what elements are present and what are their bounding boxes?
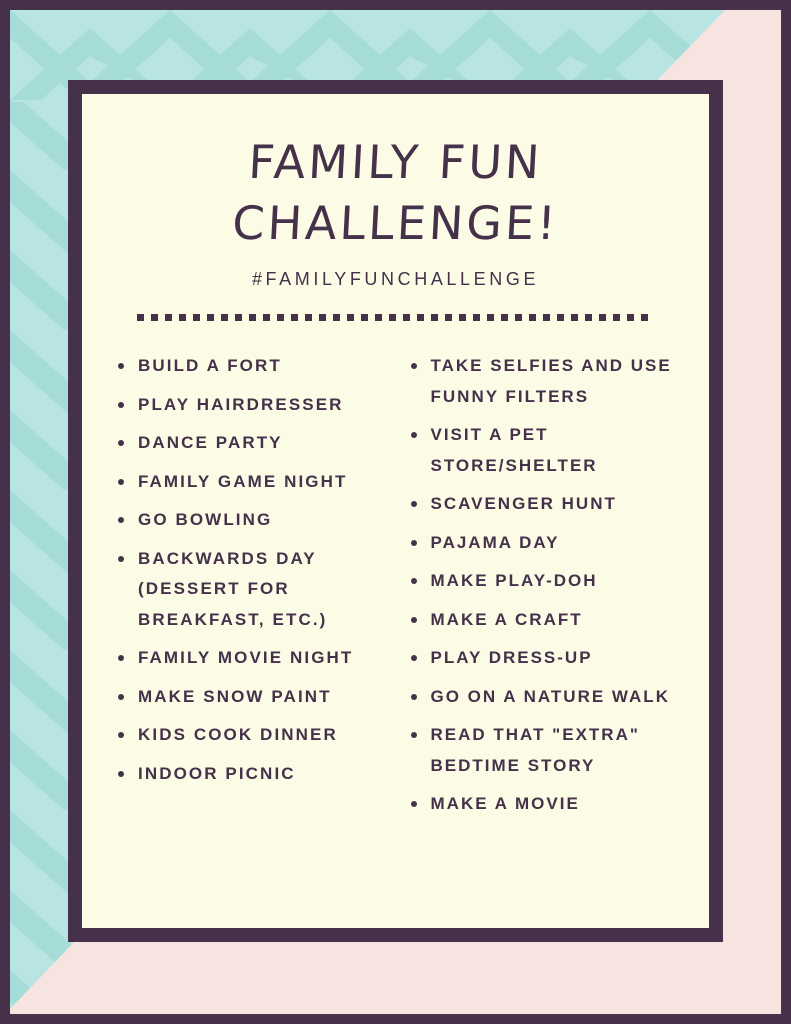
list-item-label: MAKE SNOW PAINT xyxy=(138,687,332,706)
list-item-label: MAKE A MOVIE xyxy=(431,794,580,813)
list-item[interactable]: DANCE PARTY xyxy=(116,428,383,459)
list-item-label: SCAVENGER HUNT xyxy=(431,494,617,513)
content-card: FAMILY FUN CHALLENGE! #FAMILYFUNCHALLENG… xyxy=(82,94,709,928)
list-item-label: FAMILY MOVIE NIGHT xyxy=(138,648,353,667)
list-item[interactable]: SCAVENGER HUNT xyxy=(409,489,676,520)
page-title-line-2: CHALLENGE! xyxy=(114,193,676,254)
bullet-icon xyxy=(118,556,124,562)
bullet-icon xyxy=(118,694,124,700)
list-item-label: PLAY HAIRDRESSER xyxy=(138,395,344,414)
bullet-icon xyxy=(118,402,124,408)
list-item[interactable]: TAKE SELFIES AND USE FUNNY FILTERS xyxy=(409,351,676,412)
left-challenge-list: BUILD A FORT PLAY HAIRDRESSER DANCE PART… xyxy=(116,351,383,789)
list-item[interactable]: MAKE PLAY-DOH xyxy=(409,566,676,597)
list-item-label: PAJAMA DAY xyxy=(431,533,560,552)
bullet-icon xyxy=(118,440,124,446)
list-item[interactable]: VISIT A PET STORE/SHELTER xyxy=(409,420,676,481)
list-item[interactable]: FAMILY GAME NIGHT xyxy=(116,467,383,498)
title-block: FAMILY FUN CHALLENGE! #FAMILYFUNCHALLENG… xyxy=(116,132,675,290)
bullet-icon xyxy=(118,517,124,523)
bullet-icon xyxy=(118,732,124,738)
list-item-label: VISIT A PET STORE/SHELTER xyxy=(431,425,598,475)
list-item[interactable]: READ THAT "EXTRA" BEDTIME STORY xyxy=(409,720,676,781)
bullet-icon xyxy=(411,801,417,807)
hashtag-label: #FAMILYFUNCHALLENGE xyxy=(116,269,675,290)
dotted-divider xyxy=(137,314,655,321)
list-item-label: FAMILY GAME NIGHT xyxy=(138,472,348,491)
bullet-icon xyxy=(411,432,417,438)
list-item-label: MAKE A CRAFT xyxy=(431,610,583,629)
poster: FAMILY FUN CHALLENGE! #FAMILYFUNCHALLENG… xyxy=(0,0,791,1024)
right-column: TAKE SELFIES AND USE FUNNY FILTERS VISIT… xyxy=(409,351,676,828)
list-item[interactable]: GO BOWLING xyxy=(116,505,383,536)
bullet-icon xyxy=(118,771,124,777)
list-item[interactable]: MAKE A MOVIE xyxy=(409,789,676,820)
bullet-icon xyxy=(411,363,417,369)
bullet-icon xyxy=(411,540,417,546)
list-item-label: MAKE PLAY-DOH xyxy=(431,571,598,590)
right-challenge-list: TAKE SELFIES AND USE FUNNY FILTERS VISIT… xyxy=(409,351,676,820)
list-item[interactable]: PLAY DRESS-UP xyxy=(409,643,676,674)
list-item[interactable]: FAMILY MOVIE NIGHT xyxy=(116,643,383,674)
list-item-label: GO ON A NATURE WALK xyxy=(431,687,670,706)
bullet-icon xyxy=(411,501,417,507)
bullet-icon xyxy=(411,694,417,700)
list-item-label: KIDS COOK DINNER xyxy=(138,725,338,744)
bullet-icon xyxy=(411,578,417,584)
bullet-icon xyxy=(411,617,417,623)
list-item[interactable]: MAKE A CRAFT xyxy=(409,605,676,636)
challenge-columns: BUILD A FORT PLAY HAIRDRESSER DANCE PART… xyxy=(116,351,675,828)
list-item[interactable]: PLAY HAIRDRESSER xyxy=(116,390,383,421)
list-item[interactable]: MAKE SNOW PAINT xyxy=(116,682,383,713)
list-item-label: BACKWARDS DAY (DESSERT FOR BREAKFAST, ET… xyxy=(138,549,327,629)
list-item[interactable]: PAJAMA DAY xyxy=(409,528,676,559)
list-item[interactable]: KIDS COOK DINNER xyxy=(116,720,383,751)
left-column: BUILD A FORT PLAY HAIRDRESSER DANCE PART… xyxy=(116,351,383,828)
list-item-label: TAKE SELFIES AND USE FUNNY FILTERS xyxy=(431,356,672,406)
list-item[interactable]: BACKWARDS DAY (DESSERT FOR BREAKFAST, ET… xyxy=(116,544,383,636)
bullet-icon xyxy=(118,479,124,485)
bullet-icon xyxy=(118,655,124,661)
list-item-label: GO BOWLING xyxy=(138,510,272,529)
bullet-icon xyxy=(411,732,417,738)
list-item[interactable]: GO ON A NATURE WALK xyxy=(409,682,676,713)
list-item-label: INDOOR PICNIC xyxy=(138,764,296,783)
list-item-label: BUILD A FORT xyxy=(138,356,282,375)
page-title-line-1: FAMILY FUN xyxy=(114,132,676,193)
list-item-label: PLAY DRESS-UP xyxy=(431,648,593,667)
list-item-label: READ THAT "EXTRA" BEDTIME STORY xyxy=(431,725,640,775)
list-item-label: DANCE PARTY xyxy=(138,433,283,452)
bullet-icon xyxy=(118,363,124,369)
bullet-icon xyxy=(411,655,417,661)
list-item[interactable]: INDOOR PICNIC xyxy=(116,759,383,790)
list-item[interactable]: BUILD A FORT xyxy=(116,351,383,382)
